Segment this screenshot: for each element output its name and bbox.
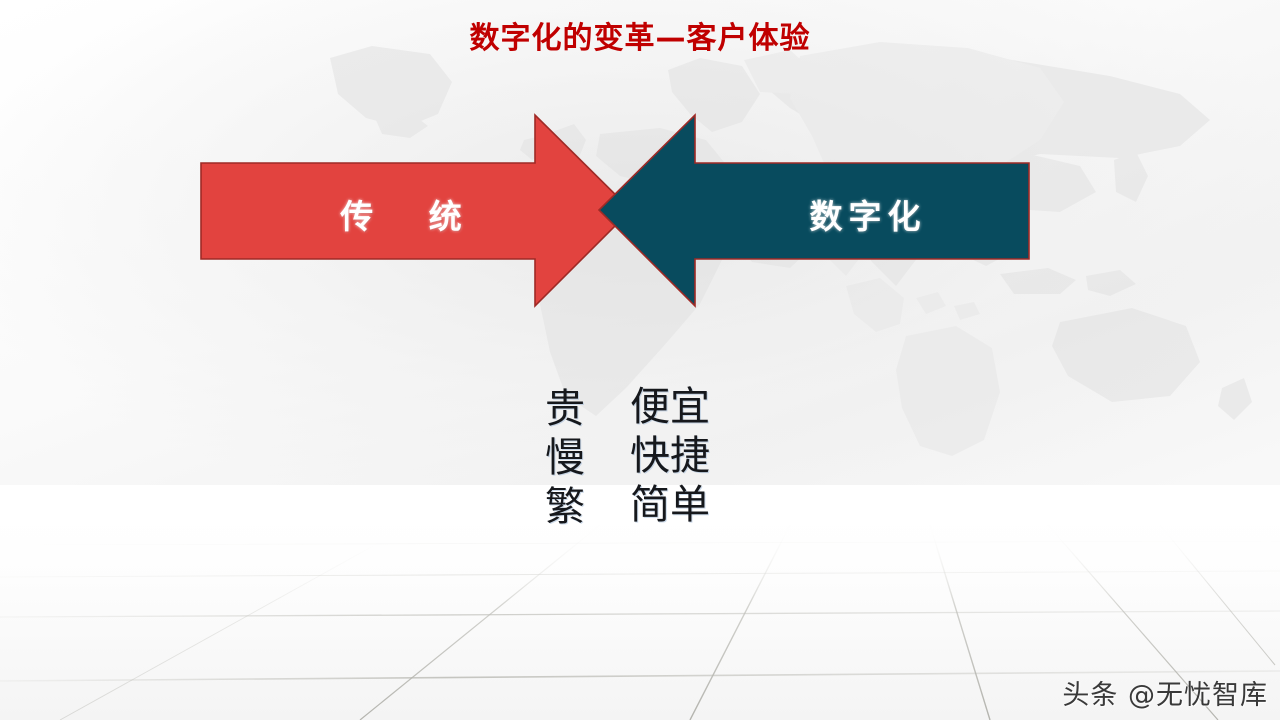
list-item: 贵: [500, 385, 630, 434]
list-item: 繁: [500, 483, 630, 532]
list-item: 慢: [500, 434, 630, 483]
slide-canvas: 数字化的变革—客户体验 传 统 数字化 贵 慢 繁 便宜 快捷 简单 头条 @无…: [0, 0, 1280, 720]
comparison-list: 贵 慢 繁 便宜 快捷 简单: [500, 383, 820, 531]
watermark: 头条 @无忧智库: [1062, 673, 1268, 712]
comparison-after-column: 便宜 快捷 简单: [630, 383, 820, 529]
arrow-left-label: 传 统: [201, 190, 601, 238]
list-item: 简单: [630, 481, 820, 530]
arrow-right-label: 数字化: [700, 190, 1030, 238]
list-item: 快捷: [630, 432, 820, 481]
page-title: 数字化的变革—客户体验: [0, 13, 1280, 57]
list-item: 便宜: [630, 383, 820, 432]
comparison-before-column: 贵 慢 繁: [500, 383, 630, 531]
